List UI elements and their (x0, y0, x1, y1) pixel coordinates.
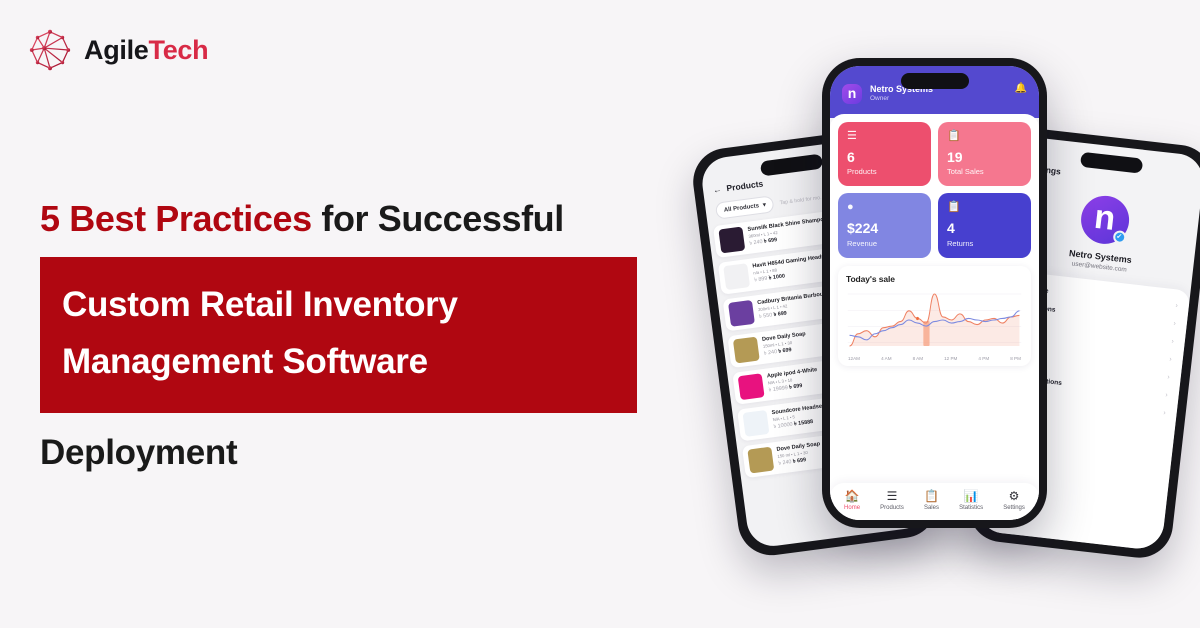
list-box-icon: ☰ (847, 131, 922, 142)
headline-block: 5 Best Practices for Successful Custom R… (40, 198, 720, 473)
all-products-dropdown[interactable]: All Products ▾ (715, 195, 775, 219)
stat-label: Products (847, 167, 922, 176)
sales-clipboard-icon: 📋 (924, 490, 939, 502)
stat-card-revenue[interactable]: ●$224Revenue (838, 193, 931, 257)
chevron-right-icon: › (1165, 391, 1168, 398)
product-info: Dove Daily Soap150ml • L 1 • 30৳ 240 ৳ 6… (762, 331, 808, 359)
phone-center-dashboard: n Netro Systems Owner 🔔 ☰6Products📋19Tot… (822, 58, 1047, 528)
dashboard-body: ☰6Products📋19Total Sales●$224Revenue📋4Re… (830, 114, 1039, 520)
product-price: ৳ 699 (789, 383, 803, 391)
chevron-right-icon: › (1175, 302, 1178, 309)
stat-card-total-sales[interactable]: 📋19Total Sales (938, 122, 1031, 186)
product-old-price: ৳ 240 (778, 459, 792, 467)
home-icon: 🏠 (844, 490, 860, 502)
product-old-price: ৳ 240 (764, 349, 778, 357)
headline-line-4: Deployment (40, 433, 720, 473)
phone-center-screen: n Netro Systems Owner 🔔 ☰6Products📋19Tot… (830, 66, 1039, 520)
tab-settings[interactable]: ⚙Settings (1003, 490, 1025, 511)
headline-band-line-2: Management Software (62, 334, 615, 391)
chart-tick-label: 8 AM (913, 356, 923, 361)
stat-cards-grid: ☰6Products📋19Total Sales●$224Revenue📋4Re… (838, 122, 1031, 258)
product-info: Dove Daily Soap150 ml • L 1 • 30৳ 240 ৳ … (776, 441, 822, 469)
headline-line-1-rest: for Successful (312, 198, 564, 239)
headline-highlight-band: Custom Retail Inventory Management Softw… (40, 257, 637, 412)
chart-tick-label: 12 PM (944, 356, 957, 361)
chevron-right-icon: › (1171, 338, 1174, 345)
tab-label: Products (880, 505, 904, 511)
chevron-right-icon: › (1169, 356, 1172, 363)
network-nodes-icon (26, 26, 74, 74)
tab-statistics[interactable]: 📊Statistics (959, 490, 983, 511)
product-thumbnail (718, 227, 745, 254)
stat-value: 19 (947, 150, 1022, 165)
headline-line-1: 5 Best Practices for Successful (40, 198, 720, 240)
dynamic-island (901, 73, 969, 89)
chevron-right-icon: › (1173, 320, 1176, 327)
products-hint-text: Tap & hold for mo... (779, 194, 824, 206)
chevron-right-icon: › (1167, 373, 1170, 380)
stat-value: $224 (847, 221, 922, 236)
product-thumbnail (738, 373, 765, 400)
product-old-price: ৳ 240 (749, 239, 763, 247)
product-info: Sunsilk Black Shine Shampoo360ml • L 1 •… (747, 216, 829, 249)
chart-tick-label: 12AM (848, 356, 860, 361)
bottom-tab-bar[interactable]: 🏠Home☰Products📋Sales📊Statistics⚙Settings (830, 483, 1039, 520)
product-old-price: ৳ 19999 (768, 385, 788, 393)
chart-x-axis: 12AM4 AM8 AM12 PM4 PM8 PM (846, 354, 1023, 361)
tab-label: Settings (1003, 505, 1025, 511)
todays-sale-card: Today's sale 12AM4 AM8 AM12 PM4 PM8 PM (838, 266, 1031, 366)
arrow-left-icon[interactable]: ← (713, 184, 723, 195)
sales-chart (846, 288, 1023, 354)
all-products-label: All Products (724, 203, 760, 214)
chart-tick-label: 4 AM (881, 356, 891, 361)
chart-tick-label: 4 PM (978, 356, 989, 361)
account-role: Owner (870, 94, 933, 103)
product-thumbnail (747, 447, 774, 474)
tab-sales[interactable]: 📋Sales (924, 490, 939, 511)
avatar[interactable]: n ✓ (1078, 193, 1131, 246)
stat-label: Total Sales (947, 167, 1022, 176)
settings-gear-icon: ⚙ (1003, 490, 1025, 502)
product-price: ৳ 1000 (769, 274, 786, 282)
stat-card-products[interactable]: ☰6Products (838, 122, 931, 186)
product-price: ৳ 699 (773, 311, 787, 319)
products-page-title: Products (726, 178, 764, 193)
product-thumbnail (728, 300, 755, 327)
headline-accent-text: 5 Best Practices (40, 198, 312, 239)
tab-label: Sales (924, 505, 939, 511)
bell-icon[interactable]: 🔔 (1015, 84, 1027, 94)
avatar-letter: n (1092, 198, 1117, 238)
product-old-price: ৳ 10000 (773, 422, 793, 430)
tab-label: Home (844, 505, 860, 511)
stat-value: 6 (847, 150, 922, 165)
chart-tick-label: 8 PM (1010, 356, 1021, 361)
tab-products[interactable]: ☰Products (880, 490, 904, 511)
product-price: ৳ 699 (764, 237, 778, 245)
product-info: Cadbury Britania Burboun200ml • L 1 • 42… (757, 291, 829, 322)
todays-sale-title: Today's sale (846, 274, 1023, 284)
tab-home[interactable]: 🏠Home (844, 490, 860, 511)
product-thumbnail (733, 337, 760, 364)
clipboard-check-icon: 📋 (947, 131, 1022, 142)
chevron-down-icon: ▾ (762, 201, 766, 208)
verified-check-icon: ✓ (1112, 230, 1126, 244)
brand-name-dark: Agile (84, 35, 149, 65)
brand-name-accent: Tech (149, 35, 209, 65)
product-price: ৳ 699 (793, 457, 807, 465)
avatar-letter: n (848, 86, 857, 100)
product-old-price: ৳ 550 (759, 313, 773, 321)
stat-label: Returns (947, 239, 1022, 248)
brand-wordmark: AgileTech (84, 35, 208, 66)
stat-value: 4 (947, 221, 1022, 236)
product-thumbnail (743, 410, 770, 437)
sales-chart-svg (846, 288, 1023, 354)
headline-band-line-1: Custom Retail Inventory (62, 277, 615, 334)
stat-card-returns[interactable]: 📋4Returns (938, 193, 1031, 257)
brand-logo[interactable]: AgileTech (26, 26, 208, 74)
dollar-coin-icon: ● (847, 202, 922, 213)
statistics-bars-icon: 📊 (959, 490, 983, 502)
phone-mockups-stage: ← Products All Products ▾ Tap & hold for… (700, 58, 1200, 618)
products-list-icon: ☰ (880, 490, 904, 502)
avatar[interactable]: n (842, 84, 862, 104)
product-old-price: ৳ 899 (754, 276, 768, 284)
stat-label: Revenue (847, 239, 922, 248)
product-price: ৳ 15888 (794, 419, 814, 427)
chevron-right-icon: › (1163, 409, 1166, 416)
clipboard-return-icon: 📋 (947, 202, 1022, 213)
product-price: ৳ 699 (778, 347, 792, 355)
product-info: Apple ipod 4-WhiteN/A • L 3 • 10৳ 19999 … (767, 367, 820, 396)
product-thumbnail (723, 263, 750, 290)
tab-label: Statistics (959, 505, 983, 511)
